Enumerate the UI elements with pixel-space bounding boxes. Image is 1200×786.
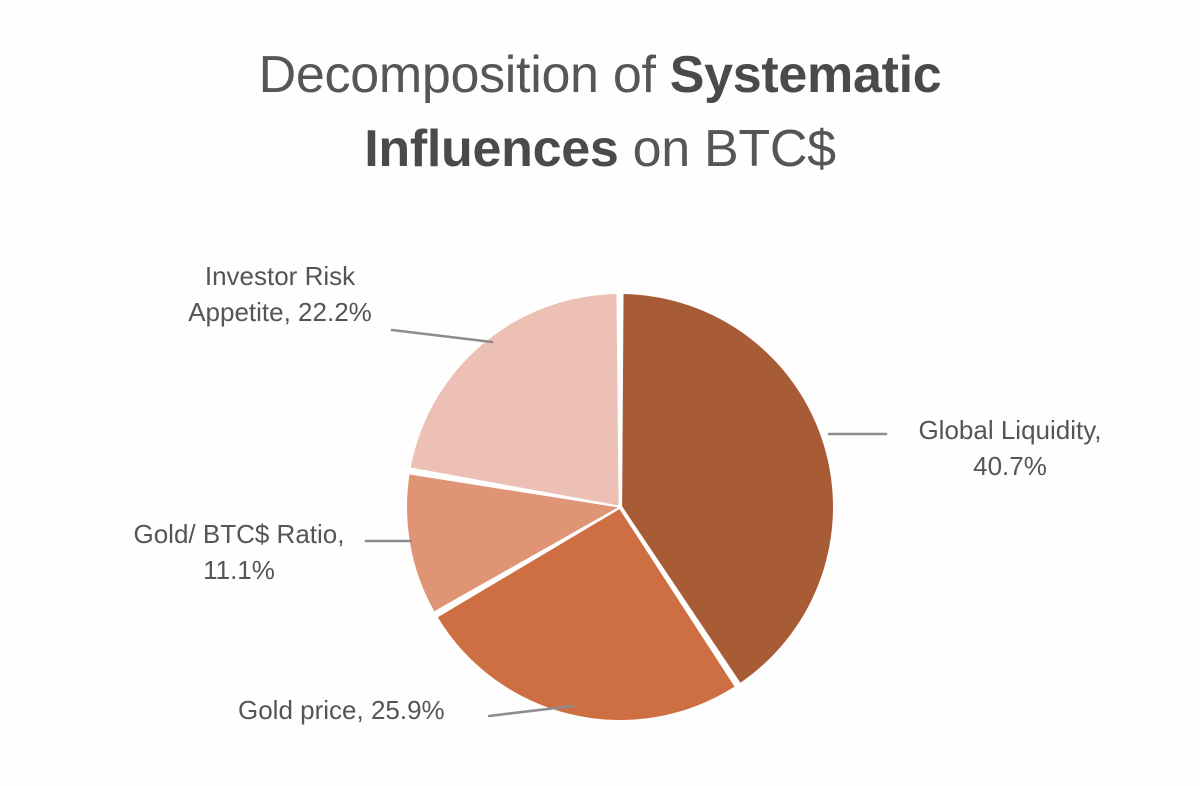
pie-chart-figure: Decomposition of Systematic Influences o… [0,0,1200,786]
leader-line-investor-risk-appetite [392,330,492,342]
slice-label-gold-btc-ratio: Gold/ BTC$ Ratio, 11.1% [110,516,368,588]
slice-label-investor-risk-appetite: Investor Risk Appetite, 22.2% [160,258,400,330]
pie-svg [0,0,1200,786]
slice-label-global-liquidity: Global Liquidity, 40.7% [890,412,1130,484]
pie-slices [407,294,833,720]
pie-slice-investor-risk-appetite[interactable] [411,294,619,505]
slice-label-gold-price: Gold price, 25.9% [238,692,490,728]
